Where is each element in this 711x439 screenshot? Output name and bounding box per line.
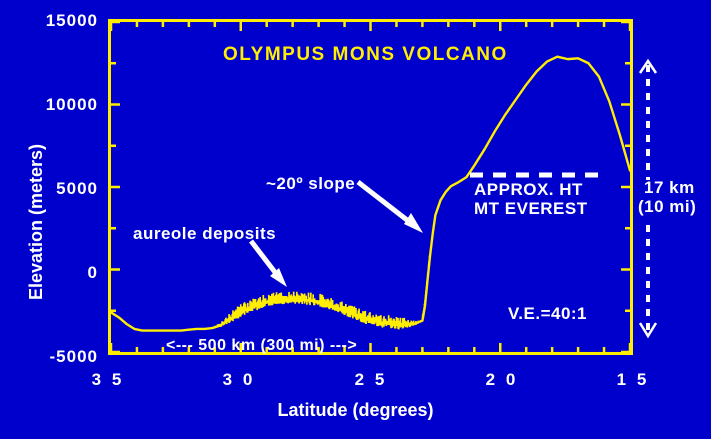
- everest-label-line1: APPROX. HT: [474, 180, 583, 200]
- y-tick-label: 10000: [2, 95, 98, 115]
- height-scale-arrow: [630, 55, 666, 345]
- x-axis-label: Latitude (degrees): [0, 400, 711, 421]
- chart-canvas: 15000 10000 5000 0 -5000 3 5 3 0 2 5 2 0…: [0, 0, 711, 439]
- y-tick-label: 0: [2, 263, 98, 283]
- everest-label-line2: MT EVEREST: [474, 199, 588, 219]
- horizontal-scale-bar-label: <--- 500 km (300 mi) --->: [166, 337, 357, 355]
- x-tick-label: 3 0: [199, 370, 279, 390]
- x-tick-label: 1 5: [593, 370, 673, 390]
- x-tick-label: 2 5: [331, 370, 411, 390]
- y-tick-label: 15000: [2, 11, 98, 31]
- x-tick-label: 3 5: [68, 370, 148, 390]
- x-tick-label: 2 0: [462, 370, 542, 390]
- aureole-annotation-label: aureole deposits: [133, 224, 276, 244]
- slope-annotation-label: ~20º slope: [266, 174, 355, 194]
- y-axis-label: Elevation (meters): [26, 144, 47, 300]
- y-tick-label: -5000: [2, 347, 98, 367]
- y-tick-label: 5000: [2, 179, 98, 199]
- vertical-exaggeration-label: V.E.=40:1: [508, 304, 587, 324]
- aureole-terrain-noise: [210, 256, 430, 330]
- chart-title: OLYMPUS MONS VOLCANO: [223, 44, 508, 66]
